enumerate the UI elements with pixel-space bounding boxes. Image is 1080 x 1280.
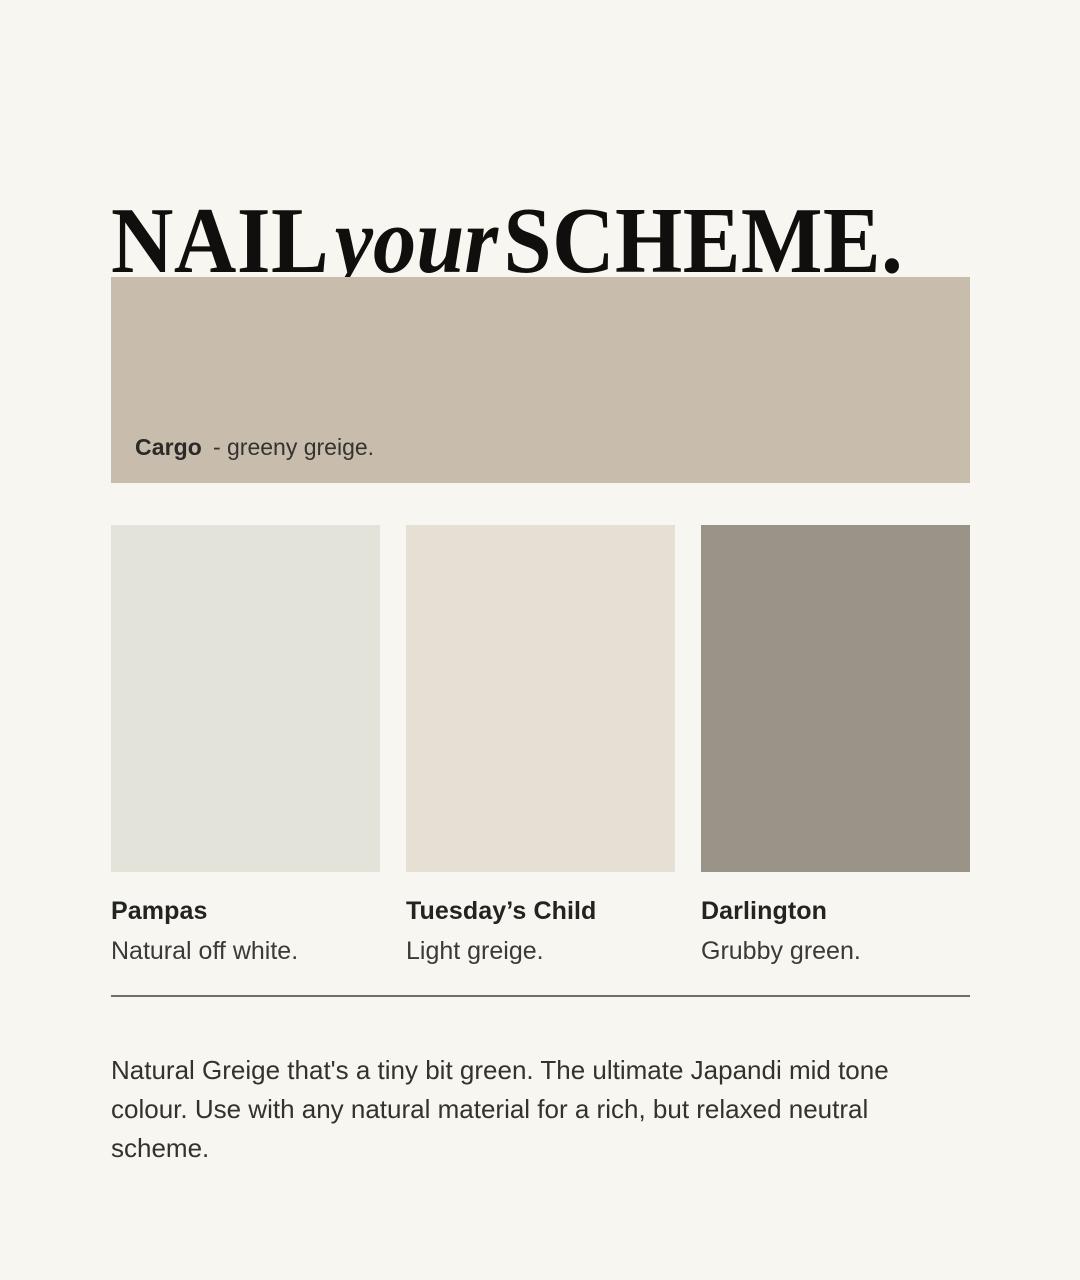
hero-swatch-description: - greeny greige. <box>202 434 374 460</box>
swatch-list: Pampas Natural off white. Tuesday’s Chil… <box>111 525 970 966</box>
swatch-name-darlington: Darlington <box>701 897 970 926</box>
hero-swatch-name: Cargo <box>135 434 202 460</box>
scheme-description: Natural Greige that's a tiny bit green. … <box>111 1051 969 1168</box>
section-divider <box>111 995 970 997</box>
swatch-chip-darlington <box>701 525 970 872</box>
swatch-name-pampas: Pampas <box>111 897 380 926</box>
swatch-description-pampas: Natural off white. <box>111 937 380 966</box>
swatch-chip-tuesdays-child <box>406 525 675 872</box>
page-title: NAILyourSCHEME. <box>111 194 939 288</box>
swatch-description-tuesdays-child: Light greige. <box>406 937 675 966</box>
swatch-item-tuesdays-child: Tuesday’s Child Light greige. <box>406 525 675 966</box>
swatch-item-pampas: Pampas Natural off white. <box>111 525 380 966</box>
hero-color-swatch-cargo: Cargo- greeny greige. <box>111 277 970 483</box>
swatch-name-tuesdays-child: Tuesday’s Child <box>406 897 675 926</box>
hero-swatch-caption: Cargo- greeny greige. <box>135 434 374 461</box>
swatch-item-darlington: Darlington Grubby green. <box>701 525 970 966</box>
swatch-chip-pampas <box>111 525 380 872</box>
swatch-description-darlington: Grubby green. <box>701 937 970 966</box>
color-scheme-card: NAILyourSCHEME. Cargo- greeny greige. Pa… <box>0 0 1080 1280</box>
